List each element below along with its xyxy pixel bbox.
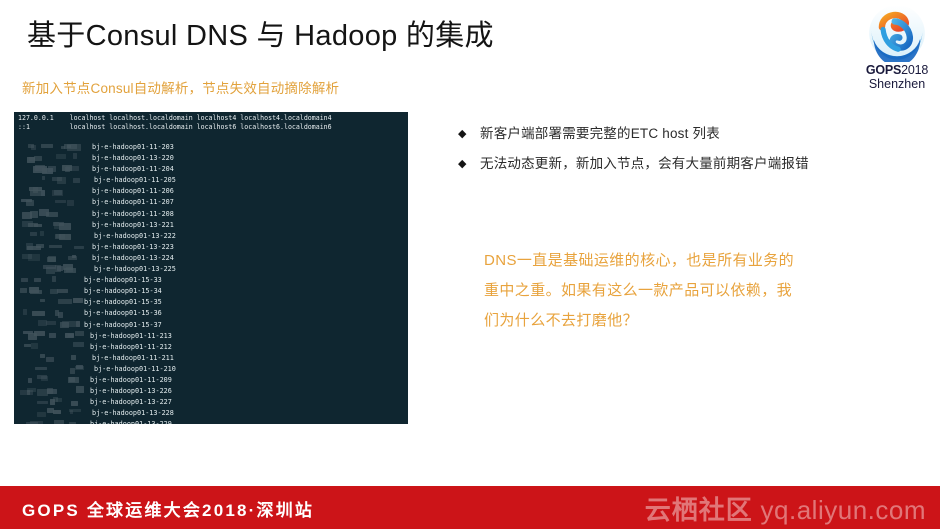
terminal-screenshot: 127.0.0.1 localhost localhost.localdomai… <box>14 112 408 424</box>
terminal-row: bj-e-hadoop01-13-221 <box>14 220 408 231</box>
terminal-hostname: bj-e-hadoop01-13-229 <box>90 419 172 424</box>
redacted-ip-block <box>18 408 84 418</box>
terminal-hostname: bj-e-hadoop01-13-222 <box>94 231 176 241</box>
redacted-ip-block <box>18 353 84 363</box>
terminal-hostname: bj-e-hadoop01-11-208 <box>92 209 174 219</box>
terminal-hostname: bj-e-hadoop01-11-211 <box>92 353 174 363</box>
terminal-hostname: bj-e-hadoop01-13-226 <box>90 386 172 396</box>
terminal-row: bj-e-hadoop01-11-210 <box>14 364 408 375</box>
redacted-ip-block <box>18 320 84 330</box>
terminal-row: bj-e-hadoop01-11-211 <box>14 353 408 364</box>
terminal-row: bj-e-hadoop01-15-37 <box>14 320 408 331</box>
terminal-hostname: bj-e-hadoop01-11-210 <box>94 364 176 374</box>
redacted-ip-block <box>18 419 84 424</box>
terminal-hostname: bj-e-hadoop01-13-225 <box>94 264 176 274</box>
terminal-hostname: bj-e-hadoop01-11-206 <box>92 186 174 196</box>
slide-root: 基于Consul DNS 与 Hadoop 的集成 新加入节点Consul自动解… <box>0 0 940 529</box>
terminal-hostname: bj-e-hadoop01-11-213 <box>90 331 172 341</box>
terminal-hostname: bj-e-hadoop01-11-212 <box>90 342 172 352</box>
terminal-row: bj-e-hadoop01-11-203 <box>14 142 408 153</box>
redacted-ip-block <box>18 275 84 285</box>
terminal-row: bj-e-hadoop01-13-226 <box>14 386 408 397</box>
redacted-ip-block <box>18 175 84 185</box>
terminal-hostname: bj-e-hadoop01-15-36 <box>84 308 162 318</box>
terminal-row: bj-e-hadoop01-13-227 <box>14 397 408 408</box>
terminal-row: bj-e-hadoop01-13-222 <box>14 231 408 242</box>
redacted-ip-block <box>18 386 84 396</box>
terminal-row: bj-e-hadoop01-15-36 <box>14 308 408 319</box>
terminal-row: bj-e-hadoop01-11-213 <box>14 331 408 342</box>
redacted-ip-block <box>18 264 84 274</box>
terminal-row: bj-e-hadoop01-11-207 <box>14 197 408 208</box>
footer-conference-text: GOPS 全球运维大会2018·深圳站 <box>22 496 314 521</box>
diamond-bullet-icon: ◆ <box>458 124 480 144</box>
redacted-ip-block <box>18 375 84 385</box>
redacted-ip-block <box>18 197 84 207</box>
terminal-row: bj-e-hadoop01-11-212 <box>14 342 408 353</box>
page-title: 基于Consul DNS 与 Hadoop 的集成 <box>27 12 494 54</box>
terminal-row: bj-e-hadoop01-15-35 <box>14 297 408 308</box>
terminal-row: bj-e-hadoop01-11-205 <box>14 175 408 186</box>
redacted-ip-block <box>18 209 84 219</box>
redacted-ip-block <box>18 364 84 374</box>
logo-name: GOPS2018 <box>855 63 939 77</box>
terminal-hostname: bj-e-hadoop01-15-34 <box>84 286 162 296</box>
footer-bar: GOPS 全球运维大会2018·深圳站 云栖社区 yq.aliyun.com <box>0 486 940 529</box>
gops-swirl-icon <box>868 4 926 62</box>
list-item: ◆ 无法动态更新，新加入节点，会有大量前期客户端报错 <box>458 154 918 174</box>
watermark: 云栖社区 yq.aliyun.com <box>645 490 926 527</box>
terminal-hostname: bj-e-hadoop01-13-221 <box>92 220 174 230</box>
redacted-ip-block <box>18 142 84 152</box>
terminal-row: bj-e-hadoop01-13-220 <box>14 153 408 164</box>
redacted-ip-block <box>18 153 84 163</box>
page-subtitle: 新加入节点Consul自动解析，节点失效自动摘除解析 <box>22 77 339 97</box>
terminal-row: bj-e-hadoop01-13-225 <box>14 264 408 275</box>
redacted-ip-block <box>18 231 84 241</box>
highlight-quote: DNS一直是基础运维的核心，也是所有业务的 重中之重。如果有这么一款产品可以依赖… <box>484 246 884 336</box>
redacted-ip-block <box>18 308 84 318</box>
terminal-row: bj-e-hadoop01-13-229 <box>14 419 408 424</box>
terminal-hostname: bj-e-hadoop01-13-228 <box>92 408 174 418</box>
terminal-hostname: bj-e-hadoop01-13-227 <box>90 397 172 407</box>
redacted-ip-block <box>18 164 84 174</box>
quote-line-1: DNS一直是基础运维的核心，也是所有业务的 <box>484 246 884 276</box>
bullet-list: ◆ 新客户端部署需要完整的ETC host 列表 ◆ 无法动态更新，新加入节点，… <box>458 124 918 184</box>
redacted-ip-block <box>18 186 84 196</box>
quote-line-3: 们为什么不去打磨他？ <box>484 306 884 336</box>
terminal-row: bj-e-hadoop01-11-209 <box>14 375 408 386</box>
terminal-row: bj-e-hadoop01-11-204 <box>14 164 408 175</box>
terminal-hostname: bj-e-hadoop01-11-203 <box>92 142 174 152</box>
terminal-row: bj-e-hadoop01-11-208 <box>14 209 408 220</box>
redacted-ip-block <box>18 286 84 296</box>
list-item-label: 无法动态更新，新加入节点，会有大量前期客户端报错 <box>480 154 918 174</box>
terminal-hostname: bj-e-hadoop01-11-204 <box>92 164 174 174</box>
redacted-ip-block <box>18 220 84 230</box>
redacted-ip-block <box>18 342 84 352</box>
terminal-row: bj-e-hadoop01-15-34 <box>14 286 408 297</box>
terminal-hostname: bj-e-hadoop01-15-37 <box>84 320 162 330</box>
terminal-hostname: bj-e-hadoop01-15-35 <box>84 297 162 307</box>
hosts-line-2: ::1 localhost localhost.localdomain loca… <box>18 123 332 131</box>
logo-name-year: 2018 <box>901 63 928 77</box>
terminal-hostname: bj-e-hadoop01-11-207 <box>92 197 174 207</box>
list-item: ◆ 新客户端部署需要完整的ETC host 列表 <box>458 124 918 144</box>
hosts-line-1: 127.0.0.1 localhost localhost.localdomai… <box>18 114 332 122</box>
terminal-hostname: bj-e-hadoop01-15-33 <box>84 275 162 285</box>
redacted-ip-block <box>18 253 84 263</box>
redacted-ip-block <box>18 331 84 341</box>
terminal-row: bj-e-hadoop01-13-223 <box>14 242 408 253</box>
terminal-hostname-list: bj-e-hadoop01-11-203bj-e-hadoop01-13-220… <box>14 142 408 424</box>
terminal-row: bj-e-hadoop01-13-224 <box>14 253 408 264</box>
watermark-url: yq.aliyun.com <box>761 495 926 525</box>
terminal-hostname: bj-e-hadoop01-11-209 <box>90 375 172 385</box>
terminal-hosts-header: 127.0.0.1 localhost localhost.localdomai… <box>18 114 332 132</box>
redacted-ip-block <box>18 242 84 252</box>
redacted-ip-block <box>18 397 84 407</box>
quote-line-2: 重中之重。如果有这么一款产品可以依赖，我 <box>484 276 884 306</box>
terminal-row: bj-e-hadoop01-13-228 <box>14 408 408 419</box>
gops-logo: GOPS2018 Shenzhen <box>855 4 939 106</box>
redacted-ip-block <box>18 297 84 307</box>
terminal-hostname: bj-e-hadoop01-13-224 <box>92 253 174 263</box>
logo-name-bold: GOPS <box>866 63 901 77</box>
terminal-row: bj-e-hadoop01-15-33 <box>14 275 408 286</box>
terminal-hostname: bj-e-hadoop01-11-205 <box>94 175 176 185</box>
terminal-hostname: bj-e-hadoop01-13-220 <box>92 153 174 163</box>
watermark-cn: 云栖社区 <box>645 495 753 525</box>
terminal-row: bj-e-hadoop01-11-206 <box>14 186 408 197</box>
terminal-hostname: bj-e-hadoop01-13-223 <box>92 242 174 252</box>
logo-city: Shenzhen <box>855 77 939 91</box>
diamond-bullet-icon: ◆ <box>458 154 480 174</box>
list-item-label: 新客户端部署需要完整的ETC host 列表 <box>480 124 918 144</box>
